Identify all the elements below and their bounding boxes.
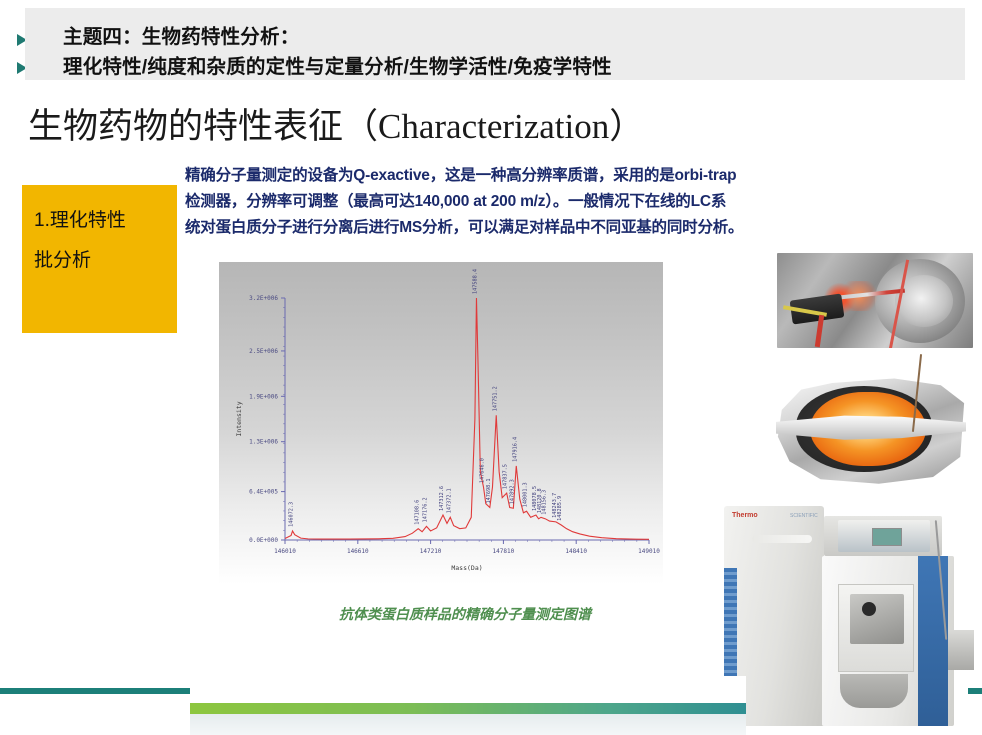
svg-text:147751.2: 147751.2: [492, 386, 498, 411]
svg-text:6.4E+005: 6.4E+005: [249, 489, 278, 496]
svg-text:3.2E+006: 3.2E+006: [249, 295, 278, 302]
instrument-brand-label: Thermo: [732, 512, 758, 519]
header-band: 主题四：生物药特性分析： 理化特性/纯度和杂质的定性与定量分析/生物学活性/免疫…: [25, 8, 965, 80]
callout-line-1: 1.理化特性: [34, 201, 177, 241]
ion-source-photo: [777, 253, 973, 348]
footer-light-band: [190, 714, 746, 735]
svg-text:146610: 146610: [347, 548, 369, 555]
body-line-3: 统对蛋白质分子进行分离后进行MS分析，可以满足对样品中不同亚基的同时分析。: [185, 215, 975, 241]
footer-gradient-bar: [190, 703, 746, 714]
mass-spectrum-chart: 0.0E+0006.4E+0051.3E+0061.9E+0062.5E+006…: [219, 262, 663, 584]
page-title: 生物药物的特性表征（Characterization）: [28, 98, 644, 149]
svg-text:148285.9: 148285.9: [557, 496, 563, 521]
chart-axis-titles: Mass(Da)Intensity: [235, 401, 483, 572]
body-line-2: 检测器，分辨率可调整（最高可达140,000 at 200 m/z）。一般情况下…: [185, 189, 975, 215]
svg-text:148410: 148410: [565, 548, 587, 555]
svg-text:Mass(Da): Mass(Da): [451, 564, 482, 572]
svg-text:147916.4: 147916.4: [512, 437, 518, 462]
svg-text:147588.4: 147588.4: [473, 269, 479, 294]
svg-text:147372.1: 147372.1: [446, 488, 452, 513]
instrument-side-module: [948, 630, 974, 670]
instrument-display-screen: [872, 528, 902, 546]
mass-spectrum-svg: 0.0E+0006.4E+0051.3E+0061.9E+0062.5E+006…: [219, 262, 663, 584]
svg-text:147810: 147810: [493, 548, 515, 555]
header-title-line-2: 理化特性/纯度和杂质的定性与定量分析/生物学活性/免疫学特性: [63, 50, 612, 79]
instrument-source-port: [862, 602, 876, 616]
svg-text:146072.3: 146072.3: [289, 502, 295, 527]
svg-text:Intensity: Intensity: [235, 401, 243, 436]
chart-axes: 0.0E+0006.4E+0051.3E+0061.9E+0062.5E+006…: [249, 295, 660, 555]
svg-text:147210: 147210: [420, 548, 442, 555]
svg-text:147108.6: 147108.6: [414, 500, 420, 525]
instrument-tray: [840, 674, 908, 708]
footer-white-block: [190, 676, 746, 703]
footer-teal-bar-left: [0, 688, 190, 694]
footer-teal-bar-right: [968, 688, 982, 694]
svg-text:147698.1: 147698.1: [486, 479, 492, 504]
svg-text:2.5E+006: 2.5E+006: [249, 348, 278, 355]
svg-text:148001.3: 148001.3: [523, 482, 529, 507]
svg-text:147892.3: 147892.3: [509, 479, 515, 504]
callout-box-physicochemical: 1.理化特性 批分析: [22, 185, 177, 333]
instrument-source-mechanism: [850, 594, 904, 644]
svg-text:149010: 149010: [638, 548, 660, 555]
svg-text:147837.5: 147837.5: [503, 464, 509, 489]
orbitrap-cutaway-diagram: [766, 352, 978, 504]
mass-spectrometer-photo: Thermo SCIENTIFIC: [712, 498, 978, 735]
body-paragraph: 精确分子量测定的设备为Q-exactive，这是一种高分辨率质谱，采用的是orb…: [185, 163, 975, 241]
header-title-line-1: 主题四：生物药特性分析：: [63, 20, 299, 49]
svg-text:147176.2: 147176.2: [423, 497, 429, 522]
svg-text:148156.3: 148156.3: [541, 490, 547, 515]
svg-text:147312.6: 147312.6: [439, 486, 445, 511]
instrument-status-leds: [752, 535, 812, 543]
svg-text:1.9E+006: 1.9E+006: [249, 393, 278, 400]
instrument-right-panel: [918, 556, 948, 726]
instrument-model-label: SCIENTIFIC: [790, 513, 818, 519]
svg-text:1.3E+006: 1.3E+006: [249, 439, 278, 446]
body-line-1: 精确分子量测定的设备为Q-exactive，这是一种高分辨率质谱，采用的是orb…: [185, 163, 975, 189]
svg-text:146010: 146010: [274, 548, 296, 555]
chart-caption: 抗体类蛋白质样品的精确分子量测定图谱: [300, 604, 630, 624]
callout-line-2: 批分析: [34, 241, 177, 281]
chart-peak-labels: 146072.3147108.6147176.2147312.6147372.1…: [289, 269, 563, 527]
svg-text:147646.0: 147646.0: [480, 458, 486, 483]
chart-series: [285, 298, 649, 539]
svg-text:0.0E+000: 0.0E+000: [249, 537, 278, 544]
